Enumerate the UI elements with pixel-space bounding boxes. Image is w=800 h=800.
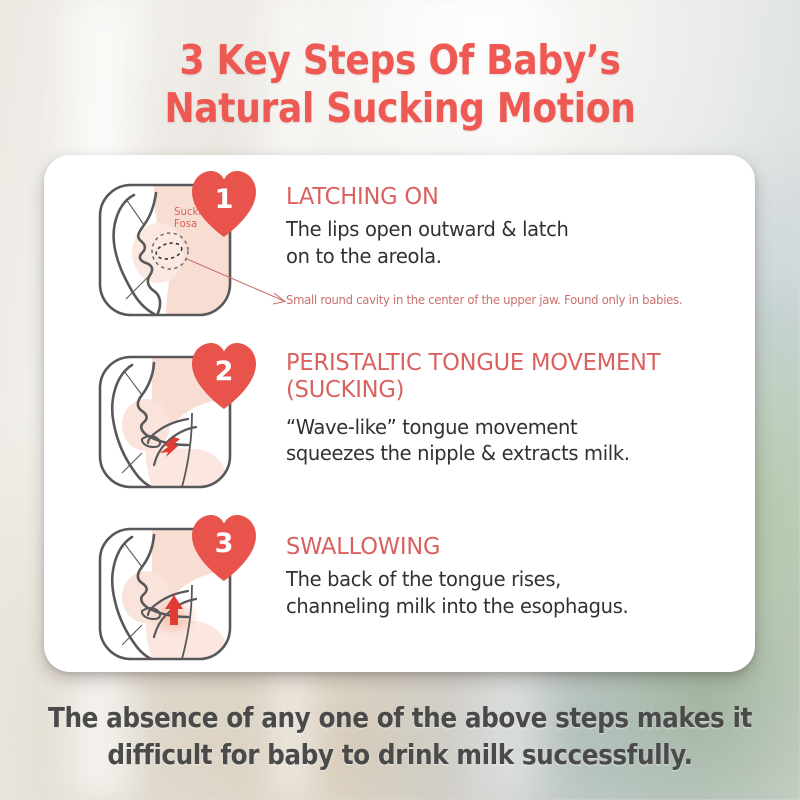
- step-badge-number: 2: [186, 337, 262, 405]
- fosa-footnote: Small round cavity in the center of the …: [286, 293, 718, 308]
- step-body-line-2: channeling milk into the esophagus.: [286, 594, 628, 618]
- page-title-line-2: Natural Sucking Motion: [48, 84, 752, 132]
- step-body-2: “Wave-like” tongue movement squeezes the…: [286, 414, 710, 467]
- step-item-latching-on: Sucking Fosa 1: [44, 163, 755, 335]
- step-body-line-2: on to the areola.: [286, 244, 442, 268]
- step-badge-3: 3: [186, 509, 262, 585]
- step-text-1: LATCHING ON The lips open outward & latc…: [286, 183, 732, 270]
- step-item-swallowing: 3 SWALLOWING The back of the tongue rise…: [44, 507, 755, 679]
- step-heading-2: PERISTALTIC TONGUE MOVEMENT (SUCKING): [286, 349, 714, 404]
- step-body-line-1: “Wave-like” tongue movement: [286, 415, 577, 439]
- step-badge-number: 3: [186, 509, 262, 577]
- step-text-3: SWALLOWING The back of the tongue rises,…: [286, 533, 732, 620]
- bottom-caption-line-1: The absence of any one of the above step…: [40, 700, 760, 737]
- step-body-line-1: The back of the tongue rises,: [286, 567, 561, 591]
- bottom-caption-line-2: difficult for baby to drink milk success…: [40, 737, 760, 774]
- step-heading-1: LATCHING ON: [286, 183, 714, 210]
- step-text-2: PERISTALTIC TONGUE MOVEMENT (SUCKING) “W…: [286, 349, 732, 467]
- step-body-line-2: squeezes the nipple & extracts milk.: [286, 441, 630, 465]
- steps-card: Sucking Fosa 1: [44, 155, 755, 672]
- infographic-page: 3 Key Steps Of Baby’s Natural Sucking Mo…: [0, 0, 800, 800]
- step-body-1: The lips open outward & latch on to the …: [286, 216, 710, 269]
- page-title: 3 Key Steps Of Baby’s Natural Sucking Mo…: [48, 36, 752, 133]
- step-body-3: The back of the tongue rises, channeling…: [286, 566, 710, 619]
- step-heading-line-2: (SUCKING): [286, 375, 404, 403]
- bottom-caption: The absence of any one of the above step…: [40, 700, 760, 773]
- page-title-line-1: 3 Key Steps Of Baby’s: [48, 36, 752, 84]
- step-badge-number: 1: [186, 165, 262, 233]
- step-badge-2: 2: [186, 337, 262, 413]
- steps-list: Sucking Fosa 1: [44, 155, 755, 672]
- step-badge-1: 1: [186, 165, 262, 241]
- step-item-peristaltic-tongue-movement: 2 PERISTALTIC TONGUE MOVEMENT (SUCKING) …: [44, 335, 755, 507]
- step-heading-3: SWALLOWING: [286, 533, 714, 560]
- step-body-line-1: The lips open outward & latch: [286, 217, 568, 241]
- step-heading-line-1: PERISTALTIC TONGUE MOVEMENT: [286, 348, 660, 376]
